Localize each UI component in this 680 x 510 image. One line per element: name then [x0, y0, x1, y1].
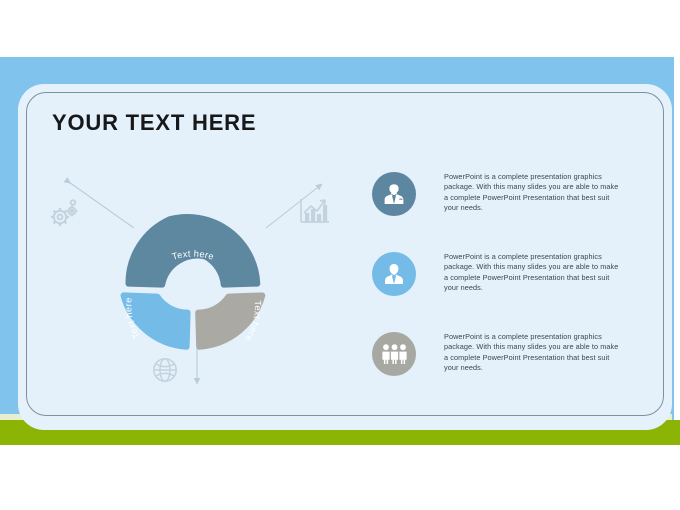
- slide-root: YOUR TEXT HERE: [0, 0, 680, 510]
- bullet-item-2[interactable]: PowerPoint is a complete presentation gr…: [372, 252, 628, 327]
- bullet-text-3: PowerPoint is a complete presentation gr…: [444, 332, 622, 374]
- group-people-icon: [372, 332, 416, 376]
- bullet-item-3[interactable]: PowerPoint is a complete presentation gr…: [372, 332, 628, 407]
- bullet-item-1[interactable]: PowerPoint is a complete presentation gr…: [372, 172, 628, 247]
- bullet-text-2: PowerPoint is a complete presentation gr…: [444, 252, 622, 294]
- bullet-text-1: PowerPoint is a complete presentation gr…: [444, 172, 622, 214]
- businesswoman-icon: [372, 252, 416, 296]
- donut-diagram: Text here Text here Text here: [108, 178, 278, 378]
- businessman-icon: [372, 172, 416, 216]
- page-title: YOUR TEXT HERE: [52, 110, 256, 136]
- top-white-band: [0, 0, 680, 57]
- bullet-list: PowerPoint is a complete presentation gr…: [372, 172, 628, 412]
- bottom-white-band: [0, 445, 680, 510]
